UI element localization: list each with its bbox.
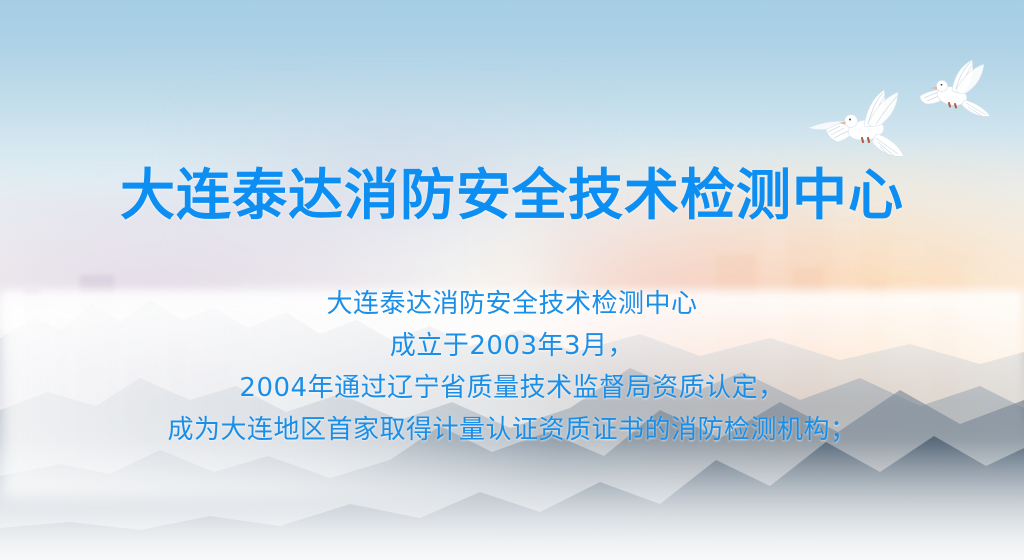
description-line-3: 2004年通过辽宁省质量技术监督局资质认定， [0,367,1024,409]
description-block: 大连泰达消防安全技术检测中心 成立于2003年3月， 2004年通过辽宁省质量技… [0,283,1024,451]
page-title: 大连泰达消防安全技术检测中心 [0,164,1024,226]
dove-left-icon [806,86,926,168]
dove-left [806,86,926,172]
description-line-2: 成立于2003年3月， [0,325,1024,367]
dove-group [0,0,1024,560]
dove-right [916,58,1000,138]
description-line-1: 大连泰达消防安全技术检测中心 [0,283,1024,325]
dove-right-icon [916,58,1000,134]
promotional-banner: 大连泰达消防安全技术检测中心 大连泰达消防安全技术检测中心 成立于2003年3月… [0,0,1024,560]
description-line-4: 成为大连地区首家取得计量认证资质证书的消防检测机构； [0,409,1024,451]
